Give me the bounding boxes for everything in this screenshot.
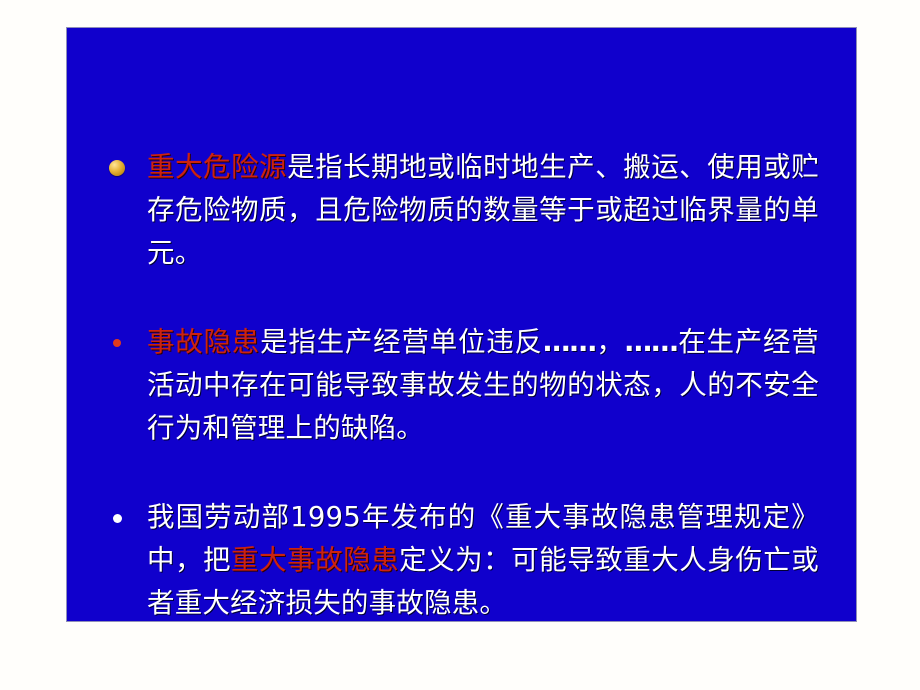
slide-root: 重大危险源是指长期地或临时地生产、搬运、使用或贮存危险物质，且危险物质的数量等于… — [0, 0, 920, 690]
bullet-2-text: 事故隐患是指生产经营单位违反……，……在生产经营活动中存在可能导致事故发生的物的… — [147, 321, 819, 450]
slide-content-panel: 重大危险源是指长期地或临时地生产、搬运、使用或贮存危险物质，且危险物质的数量等于… — [67, 28, 856, 621]
bullet-3-text: 我国劳动部1995年发布的《重大事故隐患管理规定》中，把重大事故隐患定义为：可能… — [147, 496, 819, 625]
red-dot-bullet-icon — [113, 339, 121, 347]
bullet-2-comma: ， — [596, 326, 625, 358]
bullet-1-highlight: 重大危险源 — [147, 151, 287, 183]
list-item[interactable]: 我国劳动部1995年发布的《重大事故隐患管理规定》中，把重大事故隐患定义为：可能… — [107, 496, 819, 625]
bullet-2-highlight: 事故隐患 — [147, 326, 260, 358]
bullet-2-ellipsis-a: …… — [543, 326, 596, 358]
bullet-3-highlight: 重大事故隐患 — [231, 544, 399, 576]
gold-sphere-bullet-icon — [109, 160, 125, 176]
bullet-2-body-a: 是指生产经营单位违反 — [260, 326, 543, 358]
bullet-list: 重大危险源是指长期地或临时地生产、搬运、使用或贮存危险物质，且危险物质的数量等于… — [107, 146, 819, 625]
white-dot-bullet-icon — [113, 514, 122, 523]
list-item[interactable]: 事故隐患是指生产经营单位违反……，……在生产经营活动中存在可能导致事故发生的物的… — [107, 321, 819, 450]
bullet-1-text: 重大危险源是指长期地或临时地生产、搬运、使用或贮存危险物质，且危险物质的数量等于… — [147, 146, 819, 275]
list-item[interactable]: 重大危险源是指长期地或临时地生产、搬运、使用或贮存危险物质，且危险物质的数量等于… — [107, 146, 819, 275]
bullet-2-ellipsis-b: …… — [625, 326, 678, 358]
